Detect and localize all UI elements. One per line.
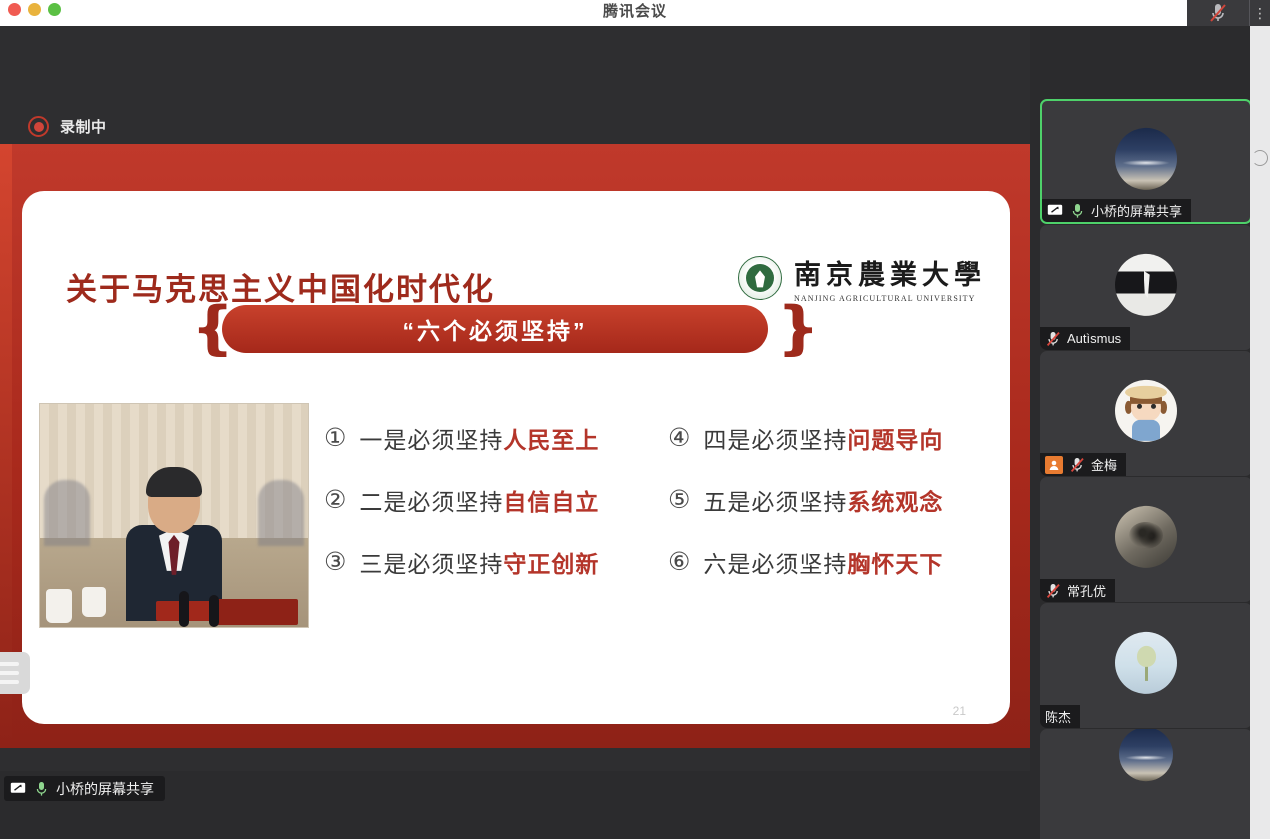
recording-bar: 录制中	[0, 26, 1030, 144]
banner-text: “六个必须坚持”	[403, 312, 588, 346]
slide-menu-icon[interactable]	[0, 652, 30, 694]
university-seal-icon	[738, 256, 782, 300]
participant-tile[interactable]: Autìsmus	[1040, 225, 1252, 350]
microphone-on-icon	[1069, 203, 1085, 219]
participant-nametag: 金梅	[1040, 453, 1126, 476]
bullet-highlight: 胸怀天下	[847, 551, 943, 577]
bullet-highlight: 系统观念	[847, 489, 943, 515]
bullet-highlight: 问题导向	[847, 427, 943, 453]
slide-title: 关于马克思主义中国化时代化	[66, 264, 495, 309]
screen-share-icon	[1047, 203, 1063, 219]
recording-indicator-icon	[28, 116, 49, 137]
participant-tile-active[interactable]: 小桥的屏幕共享	[1040, 99, 1252, 224]
shared-screen-stage: 录制中 关于马克思主义中国化时代化 南京農業大學 NANJING AGRICUL…	[0, 26, 1030, 805]
bullet-text: 六是必须坚持胸怀天下	[703, 545, 943, 579]
participant-nametag: 小桥的屏幕共享	[1042, 199, 1191, 222]
host-badge-icon	[1045, 456, 1063, 474]
participant-tile-partial[interactable]	[1040, 729, 1252, 839]
bullet-number: ①	[324, 426, 346, 451]
bullet-number: ④	[668, 426, 690, 451]
participant-panel[interactable]: 小桥的屏幕共享 Autìsmus	[1030, 26, 1270, 839]
bottom-taskbar: 小桥的屏幕共享	[0, 771, 1030, 805]
window-title: 腾讯会议	[0, 0, 1270, 26]
right-edge-strip	[1250, 26, 1270, 839]
participant-name: Autìsmus	[1067, 331, 1121, 346]
slide-frame: 关于马克思主义中国化时代化 南京農業大學 NANJING AGRICULTURA…	[0, 144, 1030, 748]
recording-label: 录制中	[60, 116, 107, 137]
slide-banner: ❴ ❵ “六个必须坚持”	[190, 305, 800, 361]
microphone-on-icon	[33, 781, 49, 797]
bracket-left-icon: ❴	[190, 301, 216, 359]
university-name-en: NANJING AGRICULTURAL UNIVERSITY	[794, 294, 986, 303]
participant-nametag: 常孔优	[1040, 579, 1115, 602]
bullet-column-left: ① 一是必须坚持人民至上 ② 二是必须坚持自信自立 ③ 三是必须坚持守正创新	[324, 407, 599, 593]
slide-card: 关于马克思主义中国化时代化 南京農業大學 NANJING AGRICULTURA…	[22, 191, 1010, 724]
meeting-window: 腾讯会议 ⋮ 录制中 关于马克思主义中国化时代化	[0, 0, 1270, 839]
participant-name: 陈杰	[1045, 707, 1071, 726]
participant-nametag: 陈杰	[1040, 705, 1080, 728]
bullet-text: 二是必须坚持自信自立	[359, 483, 599, 517]
sharing-status-chip[interactable]: 小桥的屏幕共享	[4, 776, 165, 801]
university-logo-text: 南京農業大學 NANJING AGRICULTURAL UNIVERSITY	[794, 253, 986, 303]
bullet-number: ⑤	[668, 488, 690, 513]
recording-status: 录制中	[28, 116, 107, 137]
photo-cup-left	[46, 589, 72, 623]
microphone-muted-icon	[1045, 583, 1061, 599]
avatar	[1119, 729, 1173, 781]
list-item: ③ 三是必须坚持守正创新	[324, 531, 599, 593]
participant-tile[interactable]: 金梅	[1040, 351, 1252, 476]
participant-nametag: Autìsmus	[1040, 327, 1130, 350]
university-name-cn: 南京農業大學	[794, 253, 986, 292]
photo-cup-right	[82, 587, 106, 617]
bullet-highlight: 自信自立	[503, 489, 599, 515]
bullet-text: 五是必须坚持系统观念	[703, 483, 943, 517]
bullet-text: 一是必须坚持人民至上	[359, 421, 599, 455]
speaker-photo	[39, 403, 309, 628]
avatar	[1115, 505, 1177, 567]
bullet-number: ②	[324, 488, 346, 513]
participant-tile[interactable]: 常孔优	[1040, 477, 1252, 602]
participant-name: 小桥的屏幕共享	[1091, 201, 1182, 220]
title-bar: 腾讯会议	[0, 0, 1270, 26]
scroll-knob-icon[interactable]	[1252, 150, 1268, 166]
list-item: ⑥ 六是必须坚持胸怀天下	[668, 531, 943, 593]
list-item: ② 二是必须坚持自信自立	[324, 469, 599, 531]
avatar	[1115, 127, 1177, 189]
avatar	[1115, 379, 1177, 441]
avatar	[1115, 253, 1177, 315]
participant-name: 金梅	[1091, 455, 1117, 474]
bullet-number: ③	[324, 550, 346, 575]
photo-microphone	[179, 591, 189, 627]
microphone-muted-icon	[1069, 457, 1085, 473]
photo-bg-person-right	[258, 480, 304, 546]
titlebar-right-controls: ⋮	[1187, 0, 1270, 26]
avatar	[1115, 631, 1177, 693]
banner-pill: “六个必须坚持”	[222, 305, 768, 353]
participant-tile[interactable]: 陈杰	[1040, 603, 1252, 728]
list-item: ① 一是必须坚持人民至上	[324, 407, 599, 469]
microphone-muted-icon	[1045, 331, 1061, 347]
bullet-column-right: ④ 四是必须坚持问题导向 ⑤ 五是必须坚持系统观念 ⑥ 六是必须坚持胸怀天下	[668, 407, 943, 593]
list-item: ⑤ 五是必须坚持系统观念	[668, 469, 943, 531]
bullet-number: ⑥	[668, 550, 690, 575]
participant-name: 常孔优	[1067, 581, 1106, 600]
sharing-status-label: 小桥的屏幕共享	[56, 779, 154, 799]
list-item: ④ 四是必须坚持问题导向	[668, 407, 943, 469]
bullet-highlight: 守正创新	[503, 551, 599, 577]
bullet-highlight: 人民至上	[503, 427, 599, 453]
photo-bg-person-left	[44, 480, 90, 546]
photo-nameplate	[214, 599, 298, 625]
bracket-right-icon: ❵	[774, 301, 800, 359]
screen-share-icon	[10, 781, 26, 797]
bullet-text: 三是必须坚持守正创新	[359, 545, 599, 579]
photo-microphone-2	[209, 595, 219, 627]
photo-speaker-figure	[126, 471, 222, 621]
slide-page-number: 21	[953, 704, 966, 718]
bullet-text: 四是必须坚持问题导向	[703, 421, 943, 455]
